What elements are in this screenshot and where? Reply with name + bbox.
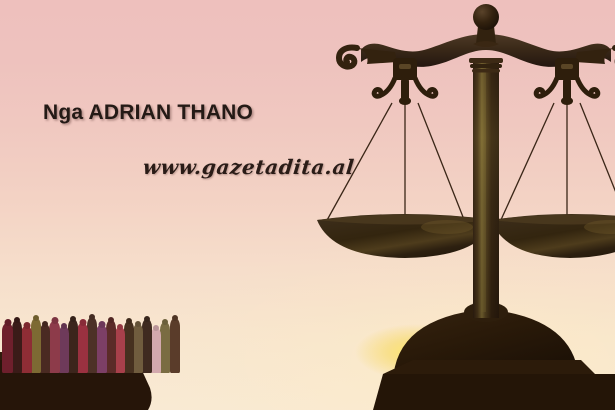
website-url-text: www.gazetadita.al [142,155,356,179]
crowd-figure-head [61,323,67,329]
crowd-figure [96,325,107,373]
crowd-figure [115,327,125,373]
left-pan [317,214,495,258]
crowd-figure [21,326,32,373]
crowd-figure [77,323,88,373]
crowd-figure-head [23,322,30,329]
crowd-figure-head [70,316,76,322]
crowd-figure-head [153,325,159,331]
crowd-figure-head [14,317,20,323]
scales-of-justice [295,0,615,410]
crowd-figure [68,319,78,373]
crowd-figure-head [33,315,39,321]
crowd-figure [151,328,161,373]
crowd-figure-head [98,321,105,328]
crowd-figure [142,319,152,373]
crowd-figure [160,322,170,373]
crowd-figure-head [172,315,178,321]
crowd-figure [124,321,134,373]
crowd-figure [31,318,41,373]
crowd-figure [133,324,143,373]
crowd-figure-head [144,316,150,322]
crowd-figure [2,323,13,373]
crowd-figure-head [126,318,132,324]
crowd-figure [49,321,60,373]
crowd-figure-head [117,324,123,330]
byline-text: Nga ADRIAN THANO [43,101,253,125]
crowd-figure-head [135,321,141,327]
crowd-figure-head [79,319,86,326]
right-pan [491,214,615,258]
crowd-figure [59,326,69,373]
plinth [373,360,615,410]
crowd-figure-head [51,317,58,324]
crowd-figure-head [4,319,11,326]
right-pan-strings [500,103,615,222]
crowd-figure [170,318,180,373]
crowd-figure-head [108,317,114,323]
crowd-figure-head [89,314,95,320]
column-collar [469,58,503,73]
crowd-figure [40,324,50,373]
crowd-figure [106,320,116,373]
illustration-canvas: Nga ADRIAN THANO www.gazetadita.al [0,0,615,410]
crowd-silhouettes [0,311,175,373]
crowd-figure [87,317,97,373]
crowd-figure-head [162,319,168,325]
finial-sphere [473,4,499,47]
crowd-figure [12,320,22,373]
crowd-figure-head [42,321,48,327]
